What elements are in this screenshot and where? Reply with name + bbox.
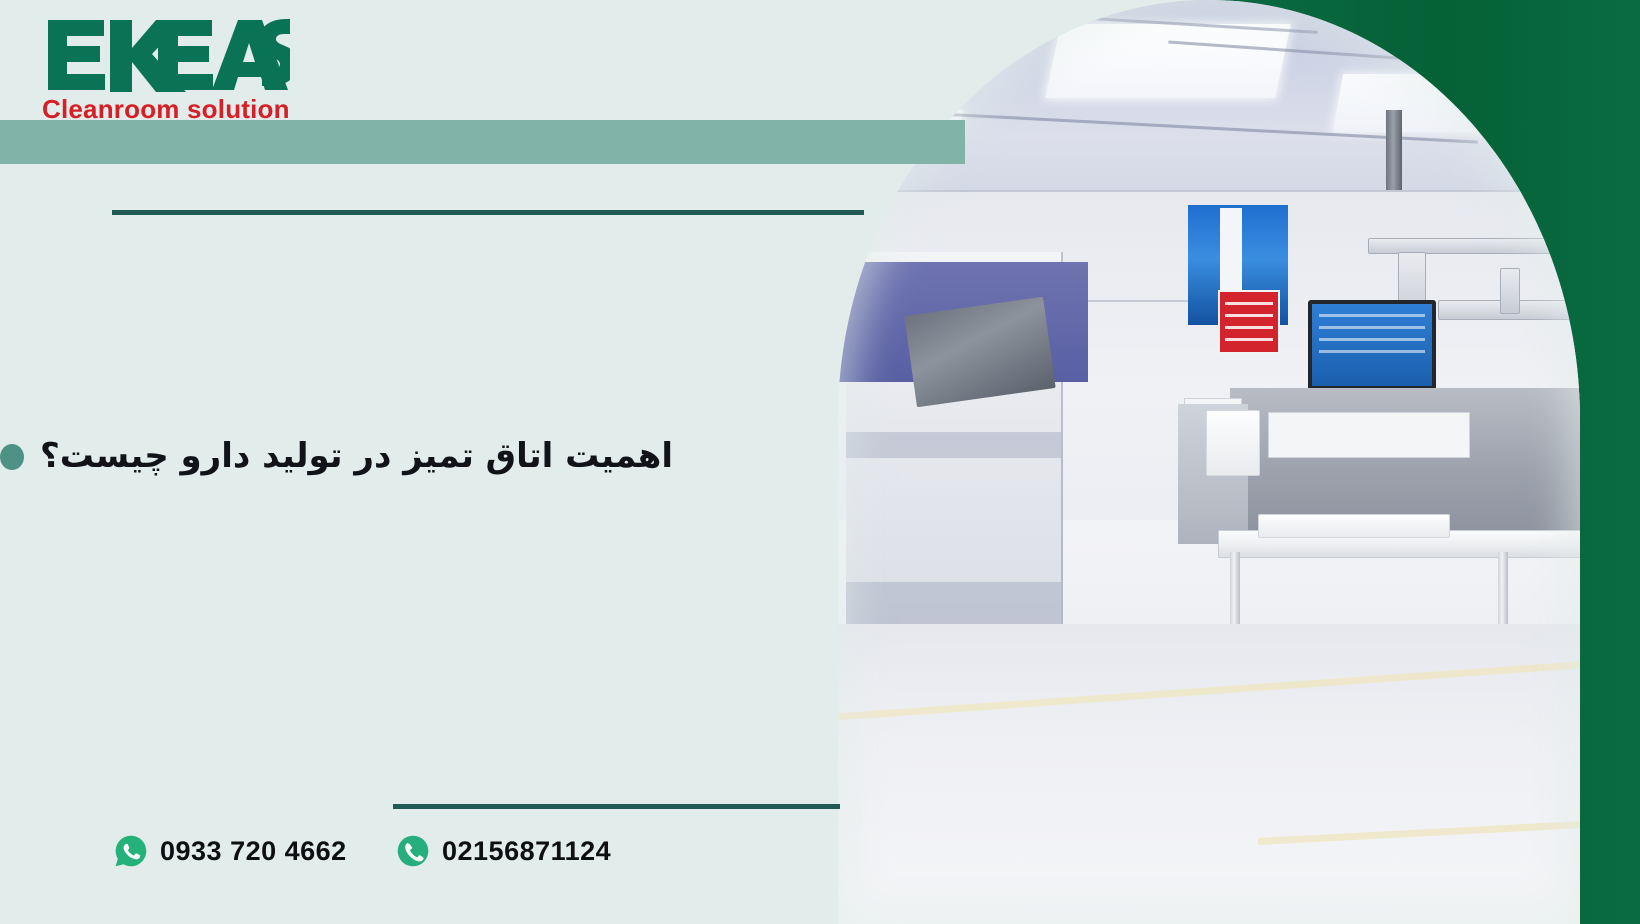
wall-seam-2 (838, 190, 1580, 192)
ceiling-light-2 (1333, 74, 1533, 132)
page-title: اهمیت اتاق تمیز در تولید دارو چیست؟ (40, 432, 673, 481)
ekeas-wordmark-icon (46, 18, 290, 94)
poster-canvas: Cleanroom solution اهمیت اتاق تمیز در تو… (0, 0, 1640, 924)
teal-band (0, 120, 965, 164)
contact-phone[interactable]: 02156871124 (396, 834, 611, 868)
ceiling-light-1 (1045, 24, 1291, 98)
contact-whatsapp[interactable]: 0933 720 4662 (114, 834, 347, 868)
whatsapp-icon (114, 834, 148, 868)
whatsapp-number: 0933 720 4662 (160, 838, 347, 865)
machine-strip-1 (846, 432, 1061, 458)
machine-doc-tray (1206, 410, 1260, 476)
brand-tagline: Cleanroom solution (42, 96, 290, 122)
divider-top (112, 210, 864, 215)
bench-paper-1 (1258, 514, 1450, 538)
equipment-monitor (1308, 300, 1436, 390)
heading-row: اهمیت اتاق تمیز در تولید دارو چیست؟ (0, 432, 700, 481)
dot-icon (0, 444, 24, 470)
clipboard-panel (904, 297, 1055, 408)
robot-joint (1500, 268, 1520, 314)
phone-number: 02156871124 (442, 838, 611, 865)
phone-icon (396, 834, 430, 868)
machine-label-panel (1268, 412, 1470, 458)
brand-logo[interactable]: Cleanroom solution (28, 18, 290, 122)
warning-sign (1218, 290, 1280, 354)
divider-bottom (393, 804, 840, 809)
